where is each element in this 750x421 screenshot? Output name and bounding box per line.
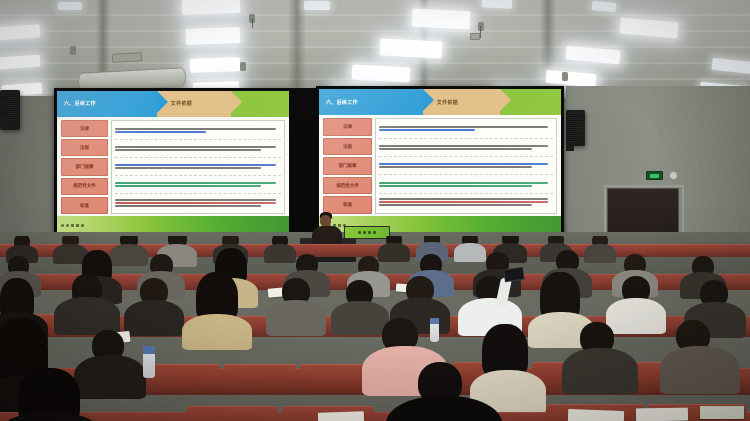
slide-right: 六、后续工作 文件依据 法律 法规 部门规章 — [319, 89, 561, 235]
slide-tab-secondary: 文件依据 — [157, 91, 231, 117]
exit-sign-icon — [646, 171, 663, 180]
content-block — [379, 140, 553, 157]
slide-sidebar: 法律 法规 部门规章 规范性文件 标准 — [61, 120, 108, 214]
ceiling-light — [619, 18, 678, 39]
slide-tab-secondary: 文件依据 — [423, 89, 500, 115]
phone-icon — [503, 267, 525, 283]
content-block — [115, 159, 281, 176]
ceiling-light — [190, 57, 240, 73]
slide-tab-primary: 六、后续工作 — [319, 89, 423, 115]
sidebar-item-normative-docs: 规范性文件 — [61, 178, 108, 195]
sidebar-item-rules: 部门规章 — [61, 158, 108, 175]
ceiling-diffuser — [470, 33, 480, 40]
ceiling-light — [412, 8, 471, 29]
ceiling-light — [711, 58, 750, 75]
content-block — [115, 177, 281, 194]
slide-content — [111, 120, 285, 214]
ceiling-light — [58, 2, 82, 10]
circle-icon — [81, 224, 84, 227]
circle-icon — [358, 231, 361, 234]
ceiling-light — [0, 55, 40, 70]
paper-sheet — [700, 406, 744, 419]
paper-sheet — [568, 409, 624, 421]
slide-tab-secondary-label: 文件依据 — [437, 99, 458, 106]
wall-clock-icon — [669, 171, 678, 180]
square-icon — [368, 231, 371, 234]
sidebar-item-regulation: 法规 — [323, 138, 372, 156]
circle-icon — [66, 224, 69, 227]
sidebar-item-rules: 部门规章 — [323, 157, 372, 175]
water-bottle — [430, 318, 439, 342]
wall-speaker — [566, 110, 585, 146]
square-icon — [76, 224, 79, 227]
slide-tab-primary-label: 六、后续工作 — [326, 99, 358, 106]
slide-tab-primary-label: 六、后续工作 — [64, 100, 96, 107]
circle-icon — [61, 224, 64, 227]
smoke-detector-icon — [562, 72, 568, 81]
ceiling-light — [0, 24, 40, 40]
smoke-detector-icon — [478, 22, 484, 31]
content-block — [379, 195, 553, 211]
content-block — [115, 141, 281, 158]
slide-left: 六、后续工作 文件依据 法律 法规 部门规章 — [57, 91, 289, 235]
content-block — [115, 195, 281, 211]
ceiling-light — [380, 38, 443, 58]
content-block — [379, 176, 553, 193]
content-block — [379, 158, 553, 175]
ceiling-light — [186, 27, 241, 45]
content-block — [115, 123, 281, 140]
ceiling-light — [352, 64, 411, 82]
ceiling-light — [592, 1, 617, 12]
paper-sheet — [318, 411, 364, 421]
right-projection-screen[interactable]: 六、后续工作 文件依据 法律 法规 部门规章 — [316, 86, 564, 238]
slide-tab-primary: 六、后续工作 — [57, 91, 157, 117]
lecture-hall-scene: 六、后续工作 文件依据 法律 法规 部门规章 — [0, 0, 750, 421]
seat — [148, 364, 220, 392]
slide-body: 法律 法规 部门规章 规范性文件 标准 — [319, 115, 561, 216]
audience — [0, 236, 750, 421]
ceiling-light — [482, 0, 512, 9]
content-block — [379, 121, 553, 138]
ceiling-diffuser — [112, 52, 142, 63]
left-projection-screen[interactable]: 六、后续工作 文件依据 法律 法规 部门规章 — [54, 88, 292, 238]
smoke-detector-icon — [70, 46, 76, 55]
ceiling-light — [182, 0, 241, 15]
slide-sidebar: 法律 法规 部门规章 规范性文件 标准 — [323, 118, 372, 214]
circle-icon — [373, 231, 376, 234]
slide-tab-secondary-label: 文件依据 — [171, 100, 192, 107]
slide-header: 六、后续工作 文件依据 — [57, 91, 289, 117]
sidebar-item-regulation: 法规 — [61, 139, 108, 156]
wall-speaker — [0, 90, 20, 130]
slide-body: 法律 法规 部门规章 规范性文件 标准 — [57, 117, 289, 216]
slash-icon — [363, 231, 366, 234]
slide-header: 六、后续工作 文件依据 — [319, 89, 561, 115]
sidebar-item-standards: 标准 — [61, 197, 108, 214]
paper-sheet — [636, 408, 688, 421]
smoke-detector-icon — [240, 62, 246, 71]
seat — [186, 406, 278, 421]
slash-icon — [71, 224, 74, 227]
sidebar-item-normative-docs: 规范性文件 — [323, 177, 372, 195]
sidebar-item-law: 法律 — [323, 118, 372, 136]
slide-content — [375, 118, 557, 214]
seat — [224, 364, 296, 392]
sidebar-item-law: 法律 — [61, 120, 108, 137]
ceiling-light — [304, 1, 330, 10]
water-bottle — [143, 346, 155, 378]
